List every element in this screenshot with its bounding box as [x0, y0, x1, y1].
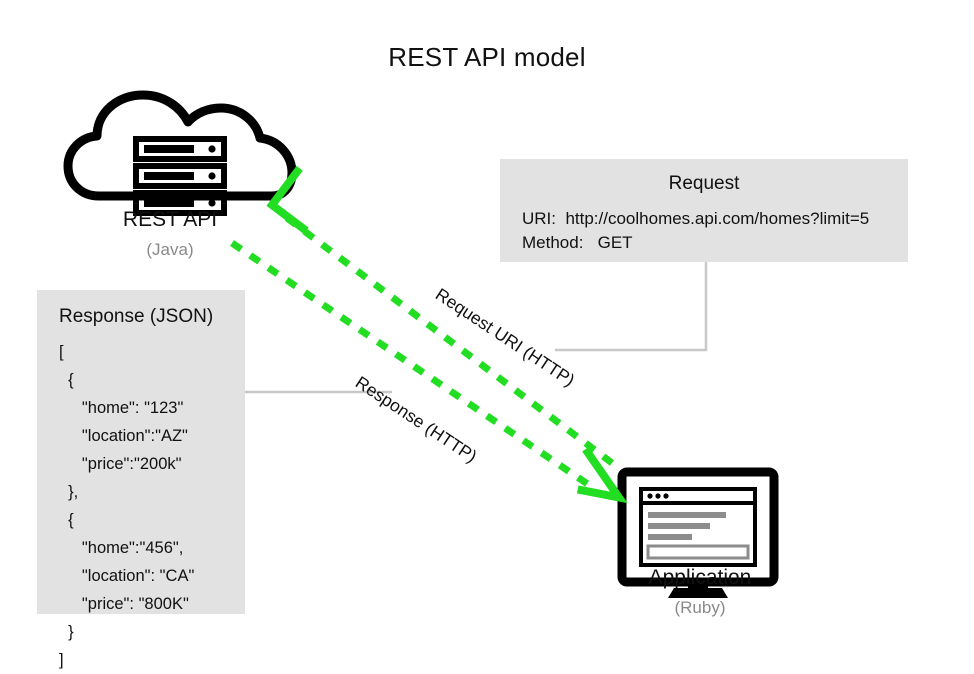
rest-api-label: REST API [55, 208, 285, 232]
request-panel-title: Request [500, 173, 908, 195]
request-method-line: Method: GET [522, 233, 633, 253]
response-json-body: [ { "home": "123" "location":"AZ" "price… [59, 338, 194, 674]
diagram-canvas: REST API model [0, 0, 974, 647]
application-sublabel: (Ruby) [585, 598, 815, 618]
browser-window-icon [641, 489, 755, 565]
cloud-server-icon [68, 95, 292, 213]
application-label: Application [585, 566, 815, 590]
rest-api-sublabel: (Java) [55, 240, 285, 260]
request-panel: Request URI: http://coolhomes.api.com/ho… [500, 159, 908, 262]
response-panel-heading: Response (JSON) [59, 306, 213, 328]
server-rack-icon [136, 139, 224, 213]
request-leader-line [555, 262, 706, 350]
response-panel: Response (JSON) [ { "home": "123" "locat… [37, 290, 245, 614]
request-uri-line: URI: http://coolhomes.api.com/homes?limi… [522, 209, 869, 229]
